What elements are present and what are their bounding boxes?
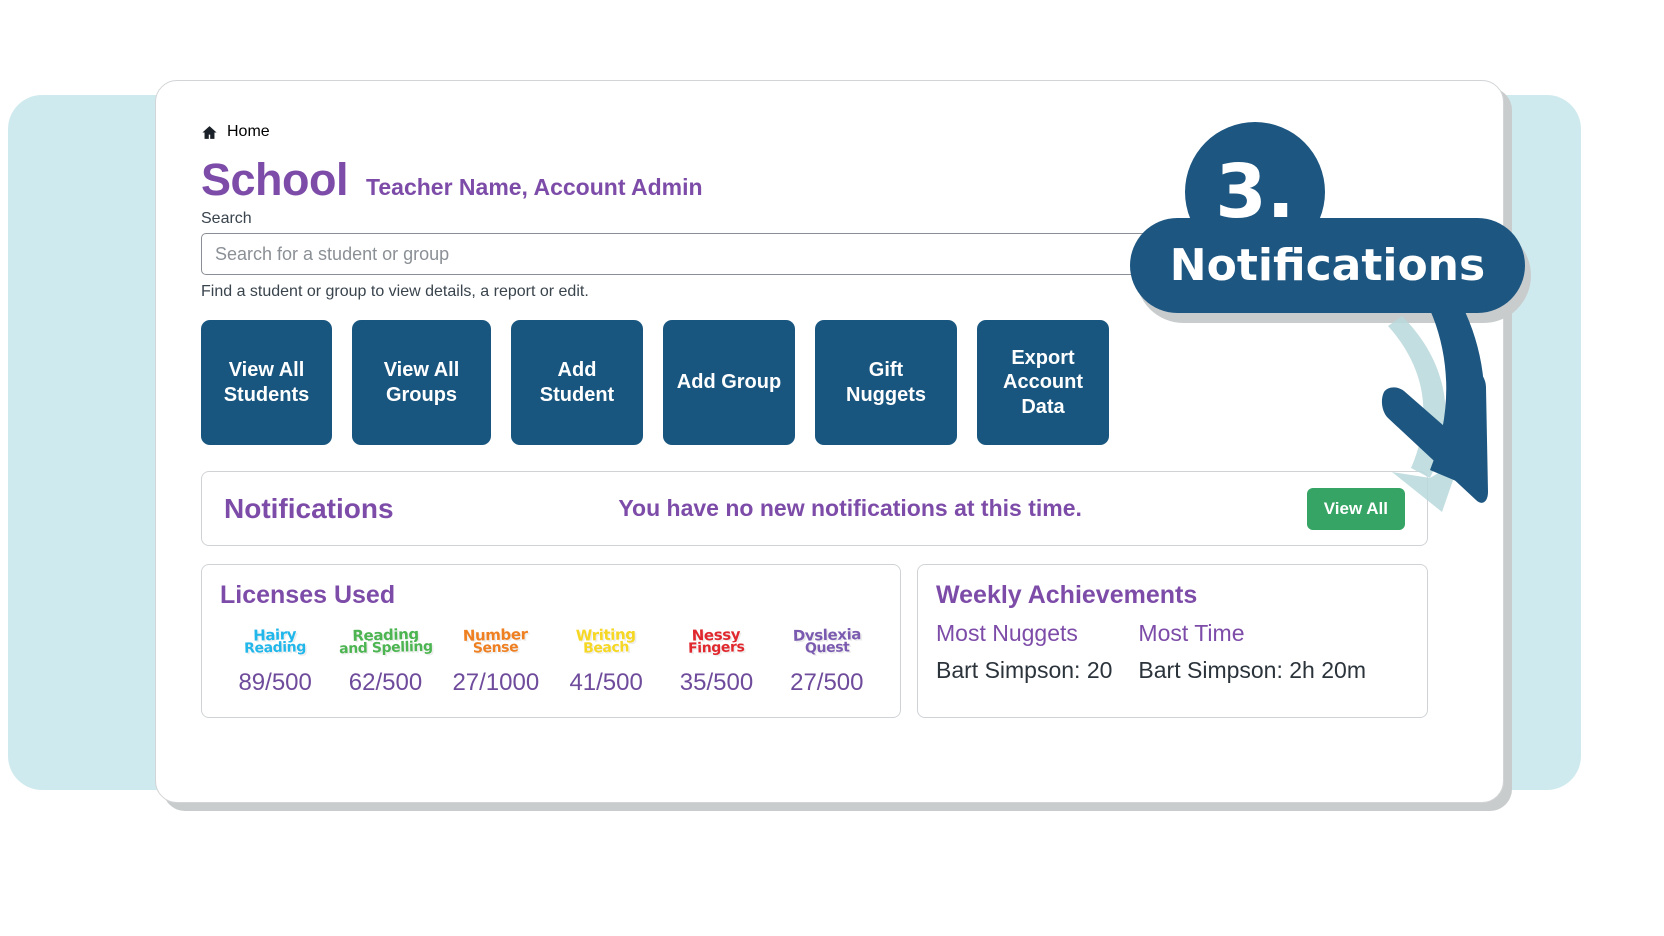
callout-label: Notifications	[1130, 218, 1525, 313]
writing-beach-logo: Writing Beach	[576, 619, 637, 665]
license-count: 35/500	[680, 669, 753, 697]
add-group-button[interactable]: Add Group	[663, 320, 795, 445]
breadcrumb-label: Home	[227, 123, 270, 141]
export-account-data-button[interactable]: Export Account Data	[977, 320, 1109, 445]
weekly-column-value: Bart Simpson: 2h 20m	[1138, 657, 1366, 684]
license-item[interactable]: Hairy Reading 89/500	[220, 620, 330, 697]
weekly-columns: Most Nuggets Bart Simpson: 20 Most Time …	[936, 620, 1409, 684]
licenses-list: Hairy Reading 89/500 Reading and Spellin…	[220, 620, 882, 697]
licenses-used-title: Licenses Used	[220, 581, 882, 610]
weekly-achievements-title: Weekly Achievements	[936, 581, 1409, 610]
license-item[interactable]: Reading and Spelling 62/500	[330, 620, 440, 697]
number-sense-logo: Number Sense	[463, 619, 529, 665]
weekly-column-value: Bart Simpson: 20	[936, 657, 1112, 684]
licenses-used-panel: Licenses Used Hairy Reading 89/500 Readi…	[201, 564, 901, 718]
license-item[interactable]: Nessy Fingers 35/500	[661, 620, 771, 697]
home-icon	[201, 124, 218, 141]
callout-annotation: 3. Notifications	[1130, 100, 1660, 520]
weekly-column-header: Most Nuggets	[936, 620, 1112, 647]
add-student-button[interactable]: Add Student	[511, 320, 643, 445]
summary-panels: Licenses Used Hairy Reading 89/500 Readi…	[201, 564, 1428, 718]
license-count: 27/1000	[452, 669, 539, 697]
weekly-column-most-nuggets: Most Nuggets Bart Simpson: 20	[936, 620, 1112, 684]
license-count: 27/500	[790, 669, 863, 697]
screenshot-root: Home School Teacher Name, Account Admin …	[0, 0, 1664, 936]
notifications-title: Notifications	[224, 493, 394, 525]
page-title: School	[201, 157, 348, 202]
license-item[interactable]: Dyslexia Quest 27/500	[772, 620, 882, 697]
account-subtitle: Teacher Name, Account Admin	[366, 176, 703, 199]
hairy-reading-logo: Hairy Reading	[244, 619, 307, 665]
license-count: 89/500	[238, 669, 311, 697]
view-all-groups-button[interactable]: View All Groups	[352, 320, 491, 445]
view-all-students-button[interactable]: View All Students	[201, 320, 332, 445]
weekly-column-header: Most Time	[1138, 620, 1366, 647]
weekly-column-most-time: Most Time Bart Simpson: 2h 20m	[1138, 620, 1366, 684]
license-item[interactable]: Writing Beach 41/500	[551, 620, 661, 697]
license-item[interactable]: Number Sense 27/1000	[441, 620, 551, 697]
license-count: 62/500	[349, 669, 422, 697]
reading-and-spelling-logo: Reading and Spelling	[338, 619, 433, 665]
weekly-achievements-panel: Weekly Achievements Most Nuggets Bart Si…	[917, 564, 1428, 718]
license-count: 41/500	[569, 669, 642, 697]
nessy-fingers-logo: Nessy Fingers	[688, 619, 745, 664]
gift-nuggets-button[interactable]: Gift Nuggets	[815, 320, 957, 445]
dyslexia-quest-logo: Dyslexia Quest	[792, 619, 861, 665]
